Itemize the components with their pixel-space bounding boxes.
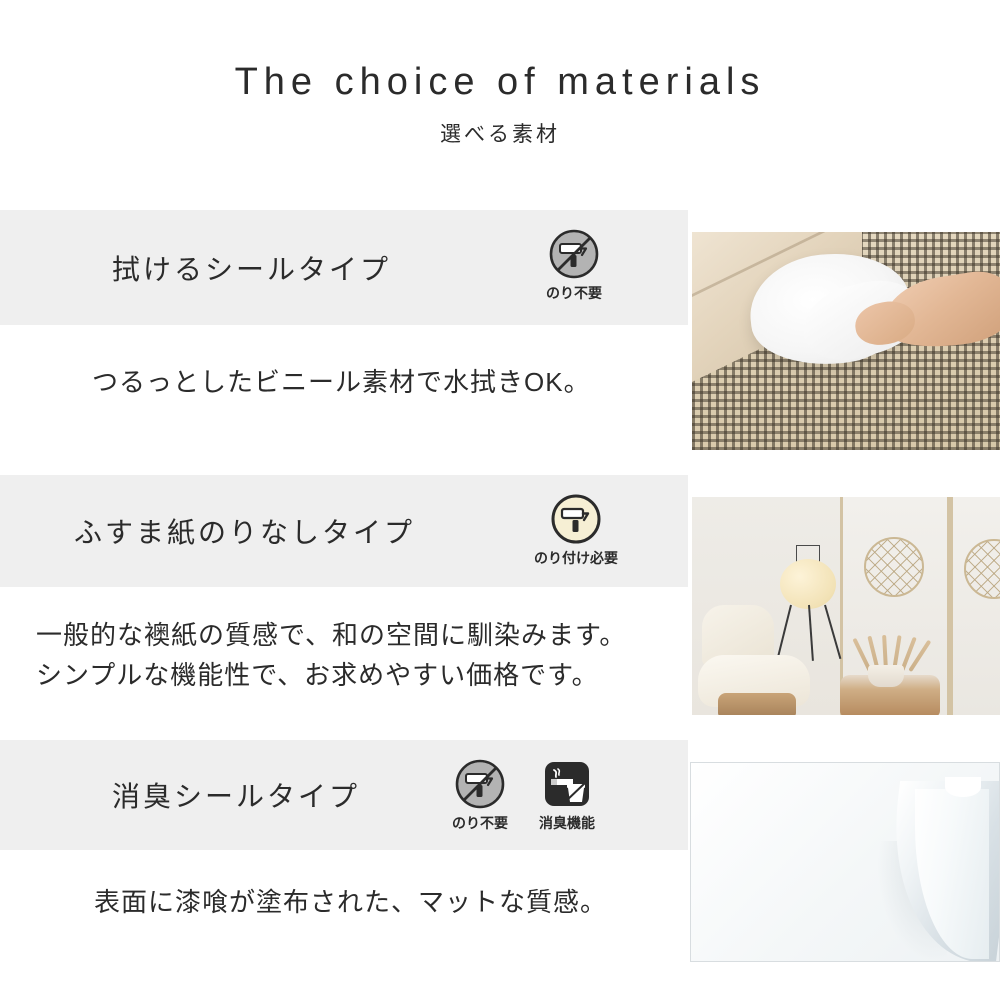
- white-curling-sheet-photo: [690, 762, 1000, 962]
- section-3-heading: 消臭シールタイプ: [112, 775, 360, 815]
- fusuma-panel: [950, 497, 1000, 715]
- circular-lattice-motif: [864, 537, 924, 597]
- section-2-body: 一般的な襖紙の質感で、和の空間に馴染みます。 シンプルな機能性で、お求めやすい価…: [36, 615, 626, 696]
- body-line: 表面に漆喰が塗布された、マットな質感。: [94, 882, 607, 922]
- section-1-badges: のり不要: [540, 228, 608, 303]
- body-line: つるっとしたビニール素材で水拭きOK。: [92, 362, 591, 402]
- page-header: The choice of materials 選べる素材: [0, 0, 1000, 147]
- badge-label: のり付け必要: [534, 548, 618, 568]
- badge-no-glue: のり不要: [446, 758, 514, 833]
- section-1-heading: 拭けるシールタイプ: [112, 248, 391, 288]
- paper-lantern-shade: [780, 559, 836, 609]
- badge-label: のり不要: [546, 283, 602, 303]
- badge-glue-required: のり付け必要: [537, 493, 615, 568]
- badge-no-glue: のり不要: [540, 228, 608, 303]
- badge-deodorize: 消臭機能: [528, 758, 606, 833]
- section-2-heading: ふすま紙のりなしタイプ: [74, 511, 415, 551]
- section-3-badges: のり不要 消臭機能: [446, 758, 606, 833]
- badge-label: 消臭機能: [539, 813, 595, 833]
- body-line: 一般的な襖紙の質感で、和の空間に馴染みます。: [36, 615, 626, 655]
- wiping-woven-mat-photo: [692, 232, 1000, 450]
- pampas-grass: [862, 615, 918, 671]
- section-1-body: つるっとしたビニール素材で水拭きOK。: [92, 362, 591, 402]
- page-title: The choice of materials: [0, 0, 1000, 104]
- section-2-badges: のり付け必要: [537, 493, 615, 568]
- badge-label: のり不要: [452, 813, 508, 833]
- no-glue-roller-icon: [454, 758, 506, 810]
- section-3-body: 表面に漆喰が塗布された、マットな質感。: [94, 882, 607, 922]
- body-line: シンプルな機能性で、お求めやすい価格です。: [36, 655, 626, 695]
- no-glue-roller-icon: [548, 228, 600, 280]
- page-subtitle: 選べる素材: [0, 104, 1000, 147]
- sheet-curl-notch: [945, 777, 981, 797]
- deodorize-icon: [541, 758, 593, 810]
- armchair-base: [718, 693, 796, 715]
- japanese-room-fusuma-photo: [692, 497, 1000, 715]
- glue-roller-icon: [550, 493, 602, 545]
- page-root: The choice of materials 選べる素材 拭けるシールタイプ …: [0, 0, 1000, 1000]
- plant-pot: [868, 665, 904, 687]
